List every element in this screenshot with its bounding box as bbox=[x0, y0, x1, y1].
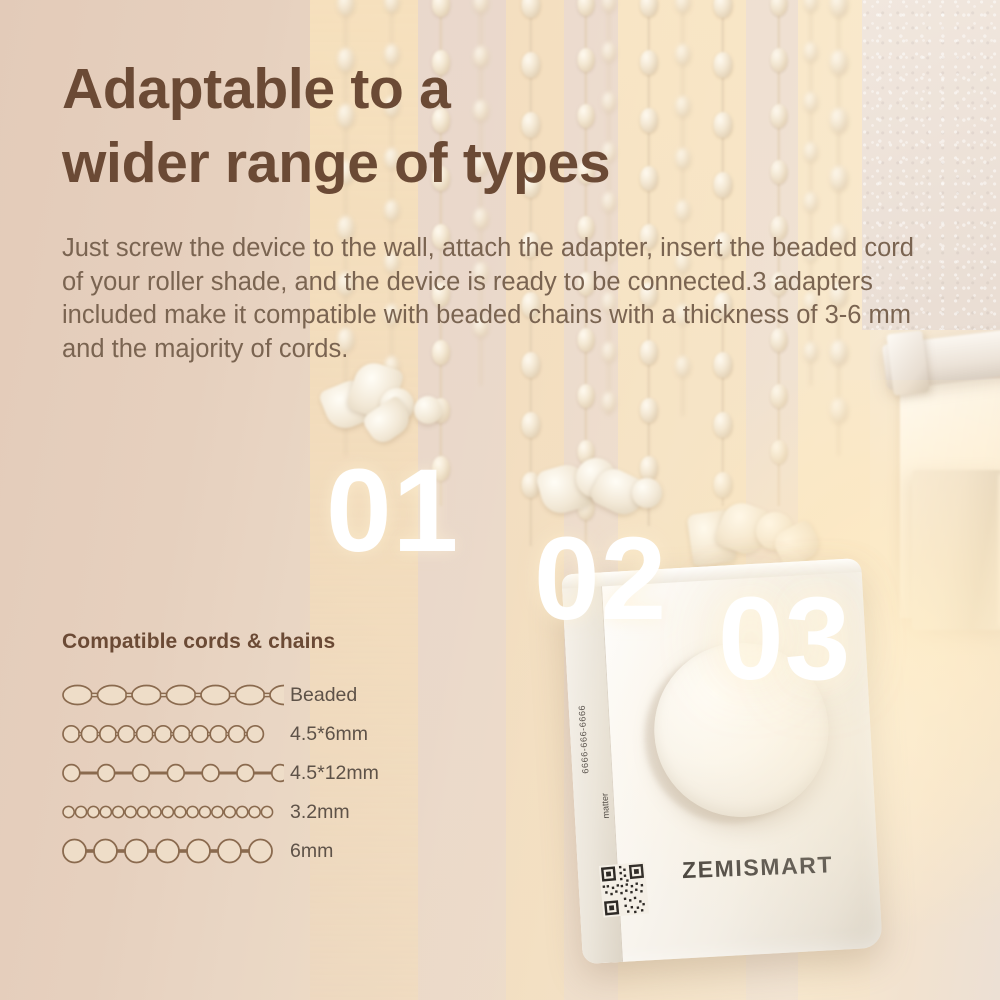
chain-bead bbox=[804, 192, 818, 212]
chain-bead bbox=[771, 0, 788, 16]
chain-bead bbox=[676, 200, 691, 221]
chain-bead bbox=[474, 0, 489, 13]
chain-size-label: 4.5*6mm bbox=[290, 723, 368, 746]
chain-size-label: 4.5*12mm bbox=[290, 762, 379, 785]
chain-bead bbox=[771, 384, 788, 408]
chain-bead bbox=[602, 392, 616, 412]
chain-bead bbox=[714, 0, 733, 18]
chain-bead bbox=[602, 0, 616, 12]
chain-bead bbox=[771, 160, 788, 184]
chain-bead bbox=[640, 398, 658, 423]
compat-row: 4.5*12mm bbox=[62, 754, 462, 792]
chain-bead bbox=[830, 398, 848, 423]
chain-bead bbox=[804, 0, 818, 12]
chain-bead bbox=[522, 0, 541, 18]
chain-diagram-oval-link bbox=[62, 680, 284, 710]
chain-bead bbox=[771, 48, 788, 72]
chain-diagram-large-round bbox=[62, 836, 284, 866]
chain-bead bbox=[830, 108, 848, 133]
chain-bead bbox=[830, 0, 848, 17]
step-number-02: 02 bbox=[534, 520, 667, 638]
headline-line-1: Adaptable to a bbox=[62, 52, 762, 126]
chain-bead bbox=[830, 50, 848, 75]
compatible-cords-section: Compatible cords & chains Beaded4.5*6mm4… bbox=[62, 630, 462, 871]
chain-diagram-round-tight bbox=[62, 719, 284, 749]
chain-bead bbox=[385, 0, 400, 13]
chain-size-label: 3.2mm bbox=[290, 801, 350, 824]
brand-logo-text: ZEMISMART bbox=[682, 851, 834, 884]
bead-chain-strand bbox=[828, 0, 850, 456]
wall-sconce bbox=[912, 470, 1000, 630]
chain-bead bbox=[771, 440, 788, 464]
chain-bead bbox=[804, 142, 818, 162]
chain-bead bbox=[676, 0, 691, 13]
matter-certification-label: matter bbox=[600, 793, 611, 819]
headline-line-2: wider range of types bbox=[62, 126, 762, 200]
chain-diagram-round-longbar bbox=[62, 758, 284, 788]
step-number-03: 03 bbox=[718, 580, 851, 698]
chain-size-label: 6mm bbox=[290, 840, 333, 863]
compat-row: Beaded bbox=[62, 676, 462, 714]
compat-row-list: Beaded4.5*6mm4.5*12mm3.2mm6mm bbox=[62, 676, 462, 870]
chain-bead bbox=[578, 384, 595, 408]
chain-bead bbox=[714, 412, 733, 438]
chain-bead bbox=[771, 104, 788, 128]
page-title: Adaptable to a wider range of types bbox=[62, 52, 762, 200]
compat-row: 3.2mm bbox=[62, 793, 462, 831]
chain-bead bbox=[432, 0, 450, 17]
chain-bead bbox=[338, 0, 355, 16]
chain-bead bbox=[804, 42, 818, 62]
compat-row: 6mm bbox=[62, 832, 462, 870]
description-paragraph: Just screw the device to the wall, attac… bbox=[62, 232, 922, 367]
chain-bead bbox=[474, 208, 489, 229]
product-marketing-image: matter 6666-666-6666 bbox=[0, 0, 1000, 1000]
chain-bead bbox=[578, 0, 595, 16]
chain-bead bbox=[804, 92, 818, 112]
step-number-01: 01 bbox=[326, 452, 459, 570]
chain-size-label: Beaded bbox=[290, 684, 357, 707]
chain-bead bbox=[522, 412, 541, 438]
compat-section-title: Compatible cords & chains bbox=[62, 630, 462, 654]
qr-code-icon bbox=[599, 862, 650, 918]
chain-bead bbox=[385, 200, 400, 221]
chain-bead bbox=[830, 166, 848, 191]
chain-bead bbox=[640, 0, 658, 17]
chain-diagram-micro-beads bbox=[62, 797, 284, 827]
compat-row: 4.5*6mm bbox=[62, 715, 462, 753]
